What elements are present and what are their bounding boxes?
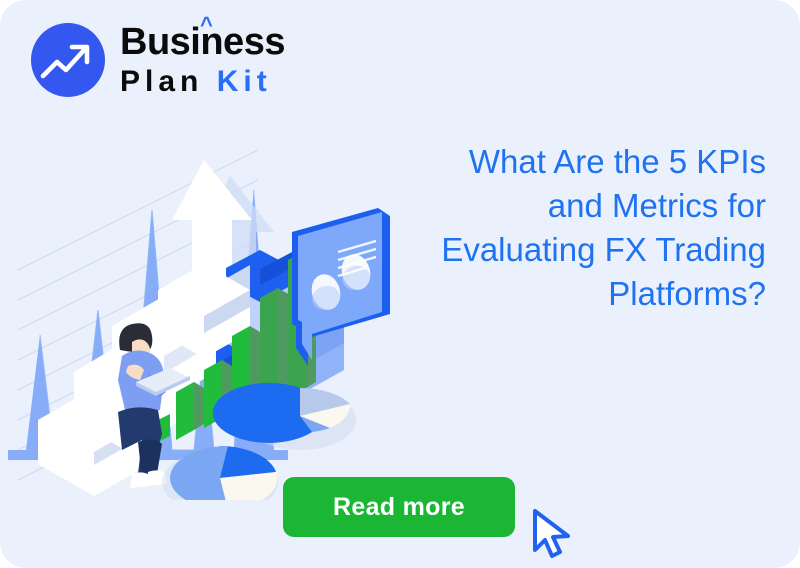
growth-arrow-circle-icon: [30, 22, 106, 98]
brand-name-line2: Plan Kit: [120, 67, 285, 97]
brand-name-kit: Kit: [217, 65, 272, 98]
brand-logo[interactable]: Business ^ Plan Kit: [30, 22, 285, 98]
brand-wordmark: Business ^ Plan Kit: [120, 23, 285, 97]
brand-name-line1: Business ^: [120, 23, 285, 61]
brand-accent-mark: ^: [200, 14, 212, 36]
business-analytics-isometric-illustration: [8, 120, 428, 500]
promo-banner: Business ^ Plan Kit: [0, 0, 800, 568]
brand-name-plan: Plan: [120, 65, 203, 98]
mouse-cursor-arrow-icon: [528, 506, 578, 562]
headline-text: What Are the 5 KPIs and Metrics for Eval…: [406, 140, 766, 316]
read-more-button[interactable]: Read more: [283, 477, 515, 537]
